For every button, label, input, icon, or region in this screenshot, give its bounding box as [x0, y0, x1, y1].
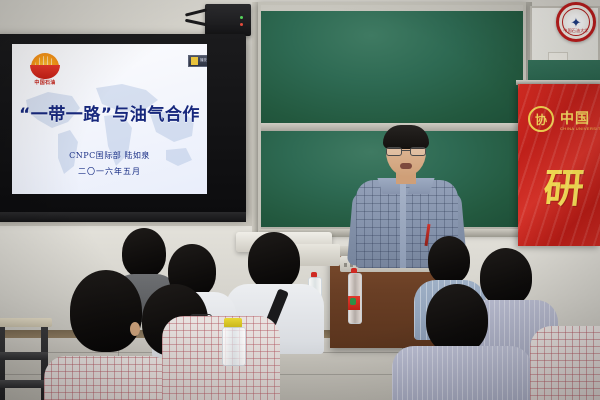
slide-date: 二〇一六年五月	[12, 166, 207, 177]
presentation-display: 中国石油 播放 演示文稿放映工具 “一带一路”与油气合作 CNPC国际部 陆如泉…	[0, 34, 246, 216]
slide-author: CNPC国际部 陆如泉	[12, 150, 207, 161]
cnpc-logo-icon: 中国石油	[28, 53, 62, 87]
banner-big-character: 研	[541, 156, 587, 214]
eyeglasses-icon	[385, 147, 427, 156]
router-led-green	[240, 16, 243, 19]
cnpc-logo-text: 中国石油	[28, 79, 62, 86]
water-bottle	[348, 268, 360, 322]
chalkboard-panel-top	[261, 11, 523, 123]
audience-member	[404, 284, 520, 400]
school-emblem-icon: ✦ 中国石油大学	[556, 2, 596, 42]
red-banner: 协 中国 CHINA UNIVERSITY 研	[518, 84, 600, 246]
emblem-arc-text: 中国石油大学	[563, 28, 589, 34]
slide-title: “一带一路”与油气合作	[12, 100, 207, 125]
presentation-slide: 中国石油 播放 演示文稿放映工具 “一带一路”与油气合作 CNPC国际部 陆如泉…	[12, 44, 207, 194]
lecture-hall-photo: ✦ 中国石油大学 协 中国 CHINA UNIVERSITY 研	[0, 0, 600, 400]
audience-member	[58, 270, 154, 400]
slide-toolbar-overlay: 播放 演示文稿放映工具	[188, 55, 207, 67]
toolbar-icon	[191, 57, 198, 65]
router-led-red	[240, 23, 243, 26]
banner-org-en: CHINA UNIVERSITY	[560, 126, 600, 131]
audience-member	[530, 316, 600, 400]
water-bottle	[222, 318, 244, 364]
emblem-star-glyph: ✦	[571, 16, 582, 29]
wireless-router-icon	[205, 4, 251, 36]
toolbar-label: 播放 演示文稿放映工具	[200, 59, 207, 62]
banner-org-text: 中国	[560, 108, 590, 128]
banner-seal-icon: 协	[528, 106, 554, 132]
display-stand	[0, 212, 246, 222]
